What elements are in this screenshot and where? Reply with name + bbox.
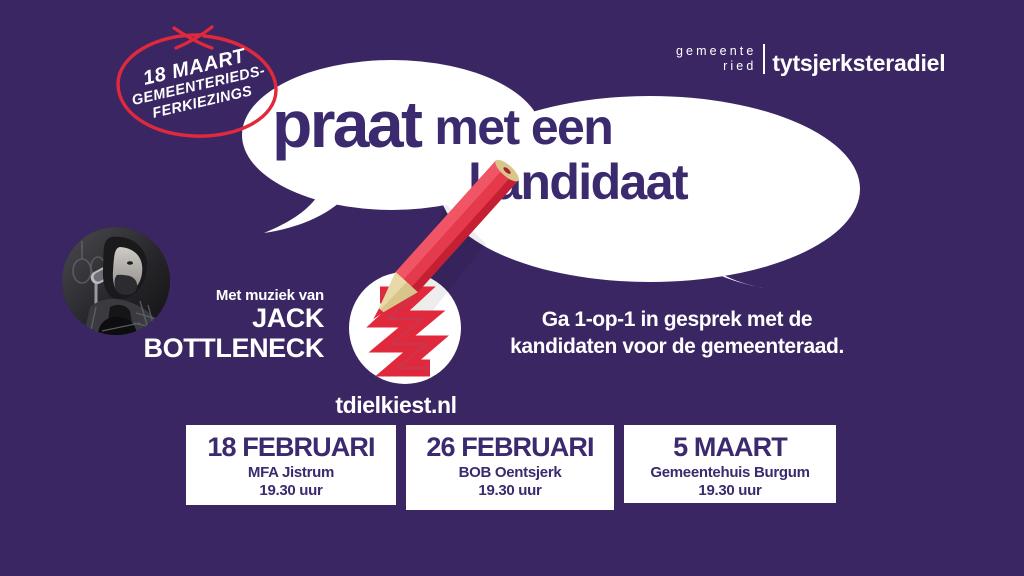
logo-line-gemeente: gemeente bbox=[676, 44, 756, 59]
logo-stack: gemeente ried bbox=[676, 44, 765, 74]
event-date-title: 26 FEBRUARI bbox=[418, 433, 602, 461]
event-venue: Gemeentehuis Burgum bbox=[636, 464, 824, 482]
event-time: 19.30 uur bbox=[418, 482, 602, 500]
music-artist-line-2: BOTTLENECK bbox=[104, 335, 324, 363]
election-date-badge: 18 maart gemeenterieds- ferkiezings bbox=[108, 26, 288, 144]
body-copy-line-2: kandidaten voor de gemeenteraad. bbox=[462, 333, 892, 360]
music-credit-intro: Met muziek van bbox=[104, 288, 324, 303]
event-date-card[interactable]: 18 FEBRUARI MFA Jistrum 19.30 uur bbox=[186, 425, 396, 505]
music-credit: Met muziek van JACK BOTTLENECK bbox=[104, 288, 324, 362]
campaign-poster: gemeente ried tytsjerksteradiel 18 maart… bbox=[0, 0, 1024, 576]
event-date-title: 5 MAART bbox=[636, 433, 824, 461]
website-url[interactable]: tdielkiest.nl bbox=[246, 392, 546, 419]
logo-municipality-name: tytsjerksteradiel bbox=[765, 52, 945, 75]
body-copy: Ga 1-op-1 in gesprek met de kandidaten v… bbox=[462, 306, 892, 361]
event-date-list: 18 FEBRUARI MFA Jistrum 19.30 uur 26 FEB… bbox=[186, 425, 836, 510]
event-date-card[interactable]: 26 FEBRUARI BOB Oentsjerk 19.30 uur bbox=[406, 425, 614, 510]
event-venue: MFA Jistrum bbox=[198, 464, 384, 482]
municipality-logo: gemeente ried tytsjerksteradiel bbox=[676, 44, 945, 74]
headline-line-1: praatmet een bbox=[272, 94, 832, 155]
body-copy-line-1: Ga 1-op-1 in gesprek met de bbox=[462, 306, 892, 333]
logo-line-ried: ried bbox=[723, 59, 756, 74]
event-venue: BOB Oentsjerk bbox=[418, 464, 602, 482]
event-time: 19.30 uur bbox=[636, 482, 824, 500]
headline-word-met-een: met een bbox=[420, 99, 612, 155]
music-artist-line-1: JACK bbox=[104, 305, 324, 333]
event-time: 19.30 uur bbox=[198, 482, 384, 500]
event-date-title: 18 FEBRUARI bbox=[198, 433, 384, 461]
event-date-card[interactable]: 5 MAART Gemeentehuis Burgum 19.30 uur bbox=[624, 425, 836, 503]
